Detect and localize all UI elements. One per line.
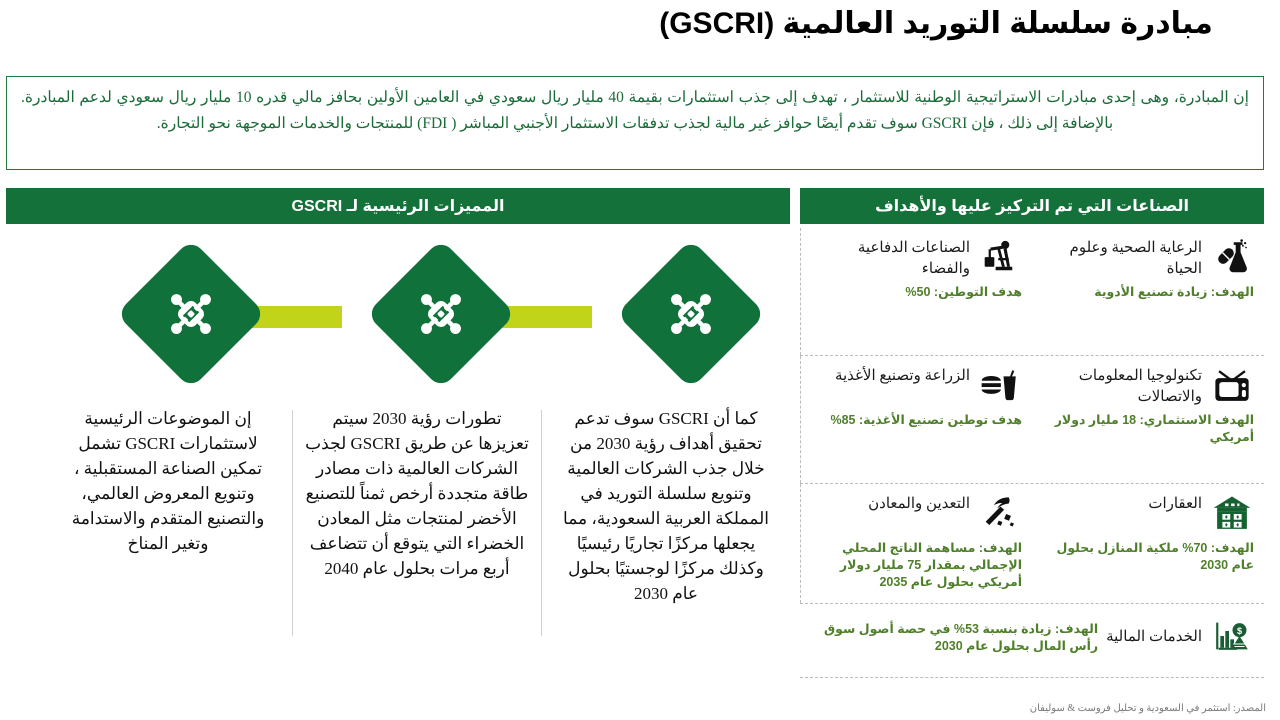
right-panel-header-label: الصناعات التي تم التركيز عليها والأهداف bbox=[875, 196, 1189, 216]
industry-item-financial-services: $ الخدمات المالية الهدف: زيادة بنسبة 53%… bbox=[800, 604, 1264, 677]
building-icon bbox=[1210, 492, 1254, 536]
television-icon bbox=[1210, 364, 1254, 408]
industry-row: العقارات الهدف: 70% ملكية المنازل بحلول … bbox=[800, 484, 1264, 604]
right-panel-header: الصناعات التي تم التركيز عليها والأهداف bbox=[800, 188, 1264, 224]
intro-paragraph: إن المبادرة، وهى إحدى مبادرات الاستراتيج… bbox=[21, 85, 1249, 137]
industry-target: الهدف: 70% ملكية المنازل بحلول عام 2030 bbox=[1042, 540, 1254, 574]
flask-pill-icon bbox=[1210, 236, 1254, 280]
industry-item-real-estate: العقارات الهدف: 70% ملكية المنازل بحلول … bbox=[1032, 484, 1264, 603]
industry-target: هدف توطين تصنيع الأغذية: 85% bbox=[811, 412, 1022, 429]
pump-jack-icon bbox=[978, 236, 1022, 280]
svg-text:$: $ bbox=[1237, 626, 1242, 636]
column-divider-1 bbox=[541, 410, 542, 636]
industry-name: العقارات bbox=[1042, 492, 1202, 515]
industry-item-mining-minerals: التعدين والمعادن الهدف: مساهمة الناتج ال… bbox=[800, 484, 1032, 603]
industry-name: الرعاية الصحية وعلوم الحياة bbox=[1042, 236, 1202, 280]
intro-box: إن المبادرة، وهى إحدى مبادرات الاستراتيج… bbox=[6, 76, 1264, 170]
diamond-chain bbox=[6, 244, 790, 394]
industry-row: الرعاية الصحية وعلوم الحياة الهدف: زيادة… bbox=[800, 228, 1264, 356]
burger-drink-icon bbox=[978, 364, 1022, 408]
network-nodes-icon bbox=[662, 285, 720, 343]
industry-target: الهدف: مساهمة الناتج المحلي الإجمالي بمق… bbox=[811, 540, 1022, 591]
diamond-node-2 bbox=[366, 239, 516, 389]
feature-columns: كما أن GSCRI سوف تدعم تحقيق أهداف رؤية 2… bbox=[6, 406, 790, 676]
industry-row: $ الخدمات المالية الهدف: زيادة بنسبة 53%… bbox=[800, 604, 1264, 678]
industry-target: الهدف: زيادة تصنيع الأدوية bbox=[1042, 284, 1254, 301]
industries-grid: الرعاية الصحية وعلوم الحياة الهدف: زيادة… bbox=[800, 228, 1264, 683]
diamond-node-3 bbox=[116, 239, 266, 389]
industry-name: الصناعات الدفاعية والفضاء bbox=[811, 236, 970, 280]
diamond-node-1 bbox=[616, 239, 766, 389]
pickaxe-icon bbox=[978, 492, 1022, 536]
industry-name: تكنولوجيا المعلومات والاتصالات bbox=[1042, 364, 1202, 408]
industry-row: تكنولوجيا المعلومات والاتصالات الهدف الا… bbox=[800, 356, 1264, 484]
column-divider-2 bbox=[292, 410, 293, 636]
feature-column-3: إن الموضوعات الرئيسية لاستثمارات GSCRI ت… bbox=[44, 406, 292, 676]
industry-target: الهدف الاستثماري: 18 مليار دولار أمريكي bbox=[1042, 412, 1254, 446]
industry-item-healthcare: الرعاية الصحية وعلوم الحياة الهدف: زيادة… bbox=[1032, 228, 1264, 355]
industry-name: الزراعة وتصنيع الأغذية bbox=[811, 364, 970, 387]
industry-name: الخدمات المالية bbox=[1106, 625, 1202, 648]
network-nodes-icon bbox=[412, 285, 470, 343]
left-panel-header: المميزات الرئيسية لـ GSCRI bbox=[6, 188, 790, 224]
page-title: مبادرة سلسلة التوريد العالمية (GSCRI) bbox=[606, 6, 1266, 41]
industry-item-ict: تكنولوجيا المعلومات والاتصالات الهدف الا… bbox=[1032, 356, 1264, 483]
industry-target: هدف التوطين: 50% bbox=[811, 284, 1022, 301]
feature-column-2: تطورات رؤية 2030 سيتم تعزيزها عن طريق GS… bbox=[293, 406, 541, 676]
industry-item-agriculture-food: الزراعة وتصنيع الأغذية هدف توطين تصنيع ا… bbox=[800, 356, 1032, 483]
feature-column-1: كما أن GSCRI سوف تدعم تحقيق أهداف رؤية 2… bbox=[542, 406, 790, 676]
industry-item-defense-aerospace: الصناعات الدفاعية والفضاء هدف التوطين: 5… bbox=[800, 228, 1032, 355]
left-panel-header-label: المميزات الرئيسية لـ GSCRI bbox=[292, 196, 505, 216]
network-nodes-icon bbox=[162, 285, 220, 343]
source-note: المصدر: استثمر في السعودية و تحليل فروست… bbox=[1030, 703, 1266, 714]
finance-chart-icon: $ bbox=[1210, 614, 1254, 658]
industry-name: التعدين والمعادن bbox=[811, 492, 970, 515]
industry-target: الهدف: زيادة بنسبة 53% في حصة أصول سوق ر… bbox=[810, 617, 1098, 655]
